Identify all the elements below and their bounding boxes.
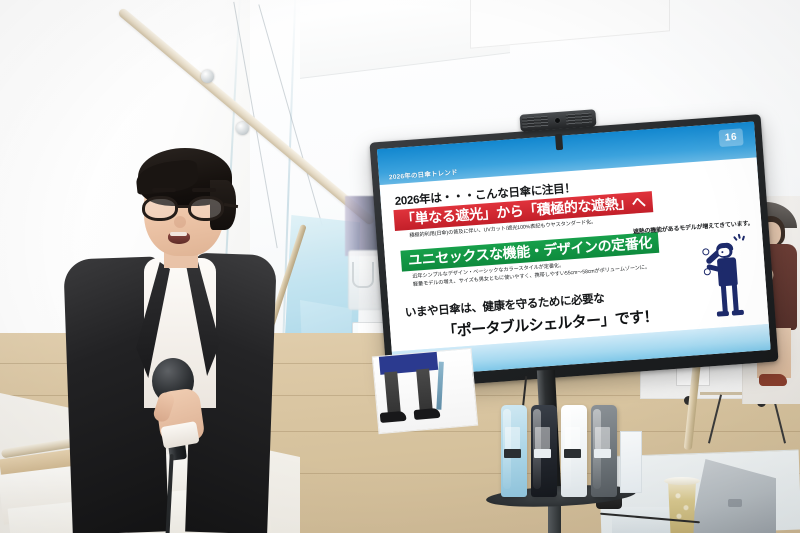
presenter-eyebrow-right <box>192 188 216 192</box>
folding-umbrella-light-blue <box>501 405 527 497</box>
illustration-shoe-left <box>717 311 729 317</box>
poster-legs-and-shoes-print <box>372 348 478 434</box>
illustration-eye <box>721 251 723 253</box>
illustration-shoe-right <box>732 310 744 316</box>
illustration-hand-up <box>702 248 709 255</box>
person-shielding-from-sun-icon <box>704 233 752 324</box>
poster-leg-right <box>416 369 433 412</box>
illustration-leg-right <box>732 284 739 312</box>
eyeglass-lens-left <box>142 196 178 221</box>
poster-shoe-right <box>414 408 441 420</box>
eyeglass-temple <box>224 203 238 208</box>
paper-cup-rim <box>664 477 700 485</box>
presenter-speaker <box>40 140 270 533</box>
presenter-nose <box>174 216 186 228</box>
eyeglass-lens-right <box>188 196 224 221</box>
slide-page-number: 16 <box>718 128 743 147</box>
folding-umbrella-gray <box>591 405 617 497</box>
illustration-face <box>718 248 730 257</box>
tv-screen[interactable]: 16 2026年の日傘トレンド 2026年は・・・こんな日傘に注目！ 「単なる遮… <box>377 121 771 377</box>
poster-leg-left <box>384 371 401 414</box>
tv-bezel: 16 2026年の日傘トレンド 2026年は・・・こんな日傘に注目！ 「単なる遮… <box>369 114 778 390</box>
eyeglasses-icon <box>140 196 232 222</box>
poster-umbrella <box>436 362 444 410</box>
folding-umbrella-navy <box>531 405 557 497</box>
wall-mounted-tv: 16 2026年の日傘トレンド 2026年は・・・こんな日傘に注目！ 「単なる遮… <box>369 114 778 390</box>
presentation-scene: 16 2026年の日傘トレンド 2026年は・・・こんな日傘に注目！ 「単なる遮… <box>0 0 800 533</box>
handrail-knob-2 <box>236 122 249 135</box>
sparkle-icon <box>732 233 747 246</box>
product-package-box <box>620 431 642 493</box>
presenter-teeth <box>170 232 187 236</box>
handrail-knob <box>201 70 214 83</box>
eyeglass-bridge <box>178 205 190 208</box>
folding-umbrella-white <box>561 405 587 497</box>
presentation-slide[interactable]: 16 2026年の日傘トレンド 2026年は・・・こんな日傘に注目！ 「単なる遮… <box>377 121 771 377</box>
paper-cup-pattern <box>672 489 692 523</box>
presenter-eyebrow-left <box>152 188 176 192</box>
webcam-lens-icon <box>555 118 560 123</box>
illustration-hand-down <box>704 268 711 275</box>
illustration-leg-left <box>721 285 728 313</box>
laptop-logo-icon <box>728 499 742 507</box>
poster-shoe <box>759 374 787 386</box>
hanger-icon <box>352 262 374 288</box>
poster-shoe-left <box>380 411 407 423</box>
